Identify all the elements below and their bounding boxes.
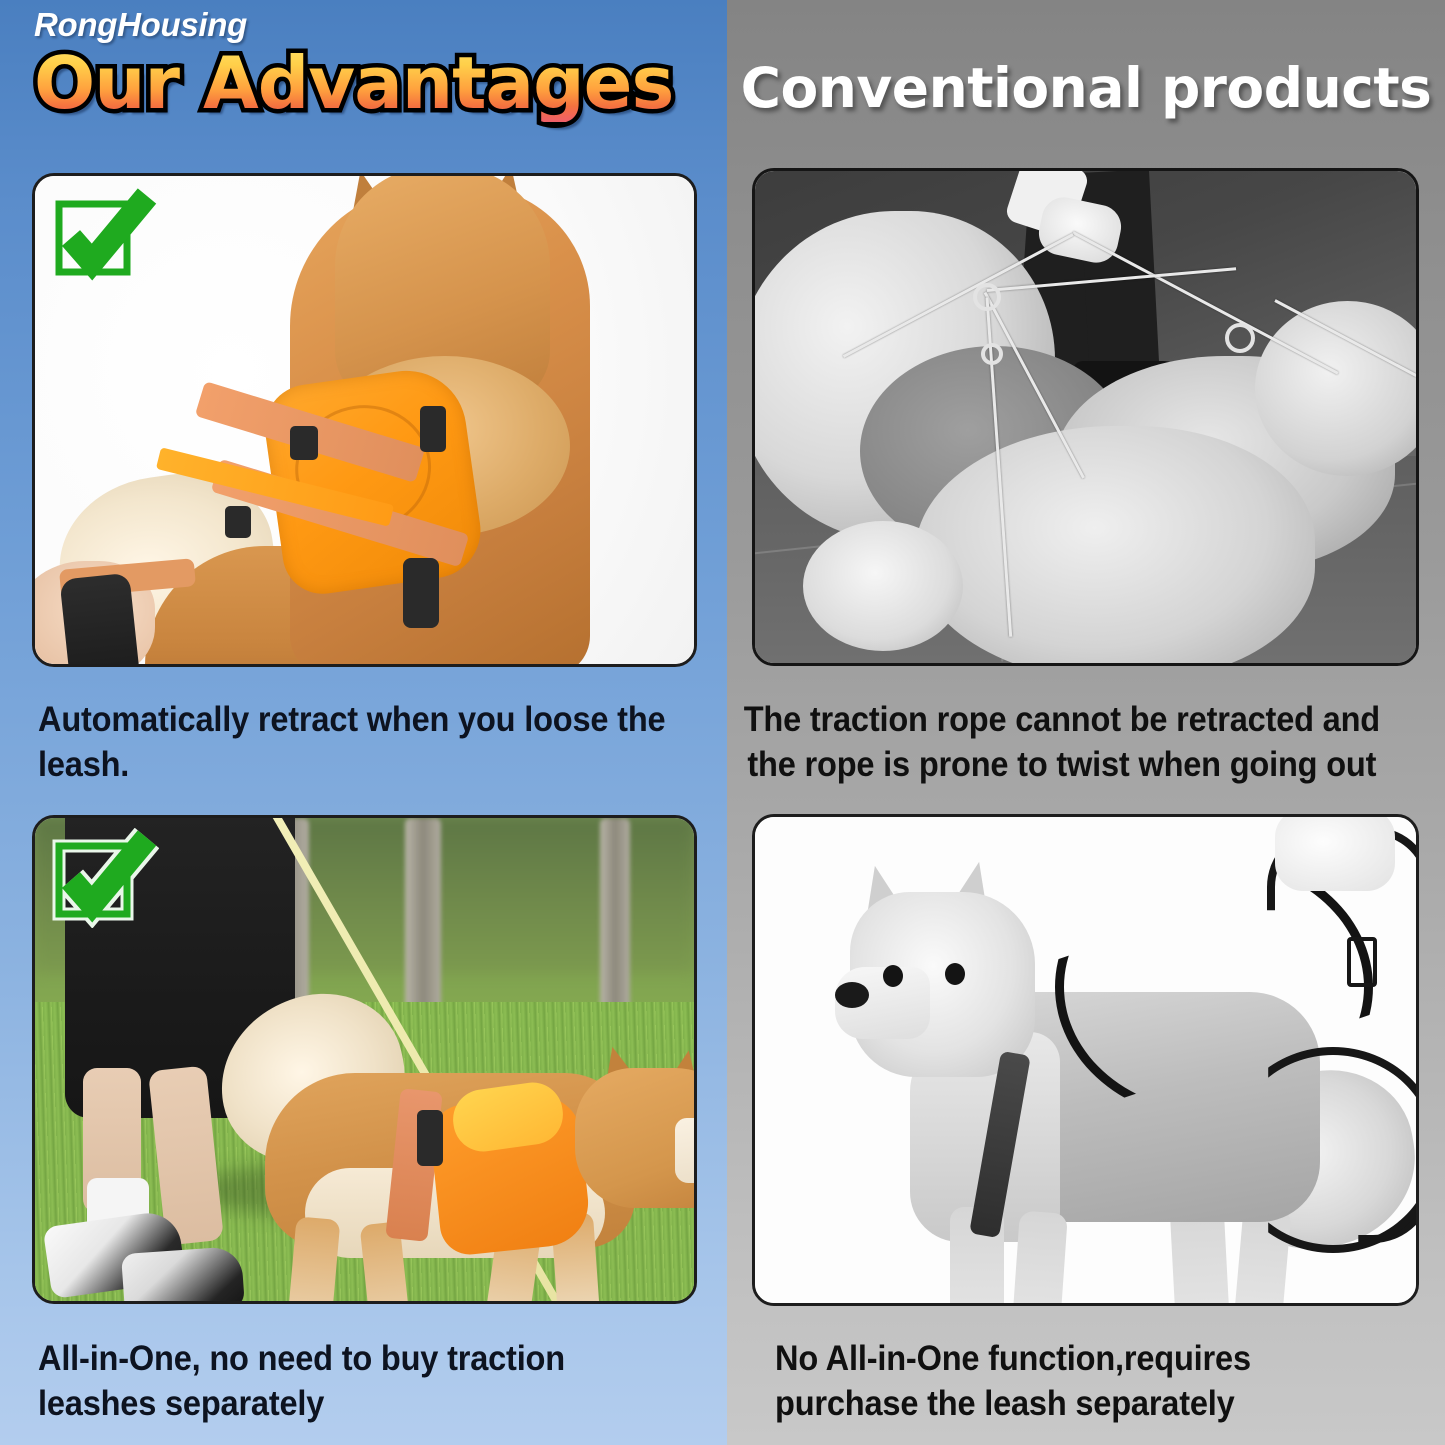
- advantages-header: RongHousing Our Advantages Our Advantage…: [34, 8, 694, 124]
- comparison-infographic: RongHousing Our Advantages Our Advantage…: [0, 0, 1445, 1445]
- advantages-panel: RongHousing Our Advantages Our Advantage…: [0, 0, 727, 1445]
- conventional-photo-separate-leash: [752, 814, 1419, 1306]
- conventional-caption-no-allinone: No All-in-One function,requires purchase…: [775, 1336, 1389, 1426]
- advantage-caption-allinone: All-in-One, no need to buy traction leas…: [38, 1336, 643, 1426]
- advantages-heading: Our Advantages Our Advantages Our Advant…: [34, 44, 694, 124]
- green-check-icon: [51, 828, 159, 928]
- conventional-heading: Conventional products: [741, 58, 1432, 118]
- photo-scene-leather-leash: [755, 817, 1416, 1303]
- conventional-header: Conventional products: [727, 58, 1445, 118]
- advantage-photo-retract: [32, 173, 697, 667]
- advantage-caption-retract: Automatically retract when you loose the…: [38, 697, 680, 787]
- advantage-photo-allinone: [32, 815, 697, 1304]
- conventional-photo-tangled-ropes: [752, 168, 1419, 666]
- conventional-caption-no-retract: The traction rope cannot be retracted an…: [741, 697, 1383, 787]
- advantages-heading-fill: Our Advantages: [34, 44, 673, 122]
- brand-logo-text: RongHousing: [34, 8, 694, 41]
- green-check-icon: [51, 186, 159, 286]
- conventional-panel: Conventional products: [727, 0, 1445, 1445]
- photo-scene-tangled-corgis: [755, 171, 1416, 663]
